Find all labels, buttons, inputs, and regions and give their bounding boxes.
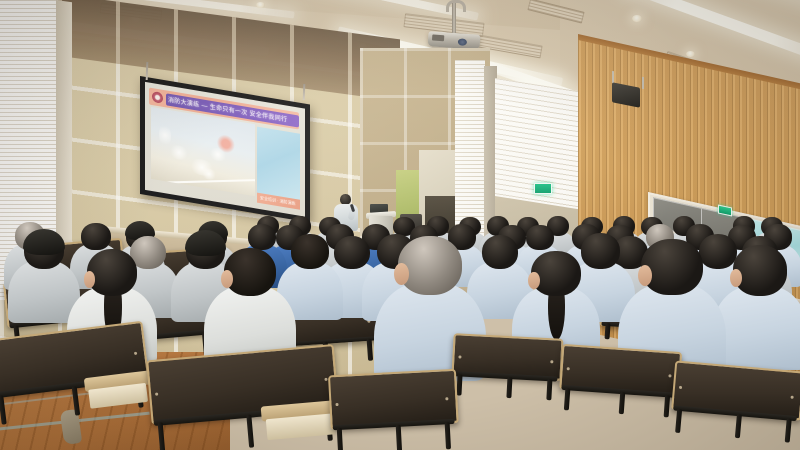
seat-leg xyxy=(664,395,671,418)
seat-bolt xyxy=(458,355,461,358)
seat-leg xyxy=(735,413,742,438)
seat-bolt xyxy=(790,396,793,399)
seat-leg xyxy=(72,386,81,416)
seat-leg xyxy=(785,418,792,443)
seat-bolt xyxy=(155,392,158,395)
seat-bolt xyxy=(550,360,553,363)
seat-leg xyxy=(246,415,254,448)
attendee-ear xyxy=(638,265,652,286)
theater-seat[interactable] xyxy=(669,360,800,443)
attendee-head xyxy=(398,236,462,295)
attendee-ear xyxy=(221,270,233,288)
attendee-head xyxy=(87,249,138,296)
seat-bolt xyxy=(679,386,682,389)
attendee-ear xyxy=(528,272,539,289)
seat-bolt xyxy=(567,367,570,370)
seat-leg xyxy=(158,423,166,450)
seat-leg xyxy=(506,377,512,398)
attendee-head xyxy=(248,224,276,250)
attendee-head xyxy=(291,234,329,269)
attendee-head xyxy=(641,239,702,295)
seat-leg xyxy=(445,422,451,449)
seat-bolt xyxy=(668,375,671,378)
seat-leg xyxy=(564,388,571,411)
seat-leg xyxy=(0,395,7,425)
seat-leg xyxy=(675,408,682,433)
theater-seat[interactable] xyxy=(450,333,565,401)
theater-seat[interactable] xyxy=(0,321,155,426)
theater-seat[interactable] xyxy=(558,344,684,418)
seat-leg xyxy=(619,392,626,415)
theater-seat[interactable] xyxy=(328,369,462,450)
attendee-head xyxy=(224,248,276,296)
attendee-head xyxy=(733,245,788,295)
seat-leg xyxy=(367,339,374,361)
seat-leg xyxy=(546,379,552,400)
seat-bolt xyxy=(134,351,137,354)
attendee-head xyxy=(531,251,580,297)
seat-bolt xyxy=(335,403,338,406)
seat-cushion[interactable] xyxy=(266,413,336,440)
auditorium-photo: 消防大演练 — 生命只有一次 安全伴我同行 演练现场 安全培训 · 消防演练 xyxy=(0,0,800,450)
seat-leg xyxy=(337,428,343,450)
theater-seat[interactable] xyxy=(146,344,344,450)
seat-leg xyxy=(396,425,402,450)
baseball-cap xyxy=(23,229,65,256)
attendee-head xyxy=(81,223,110,250)
seat-bolt xyxy=(445,397,448,400)
